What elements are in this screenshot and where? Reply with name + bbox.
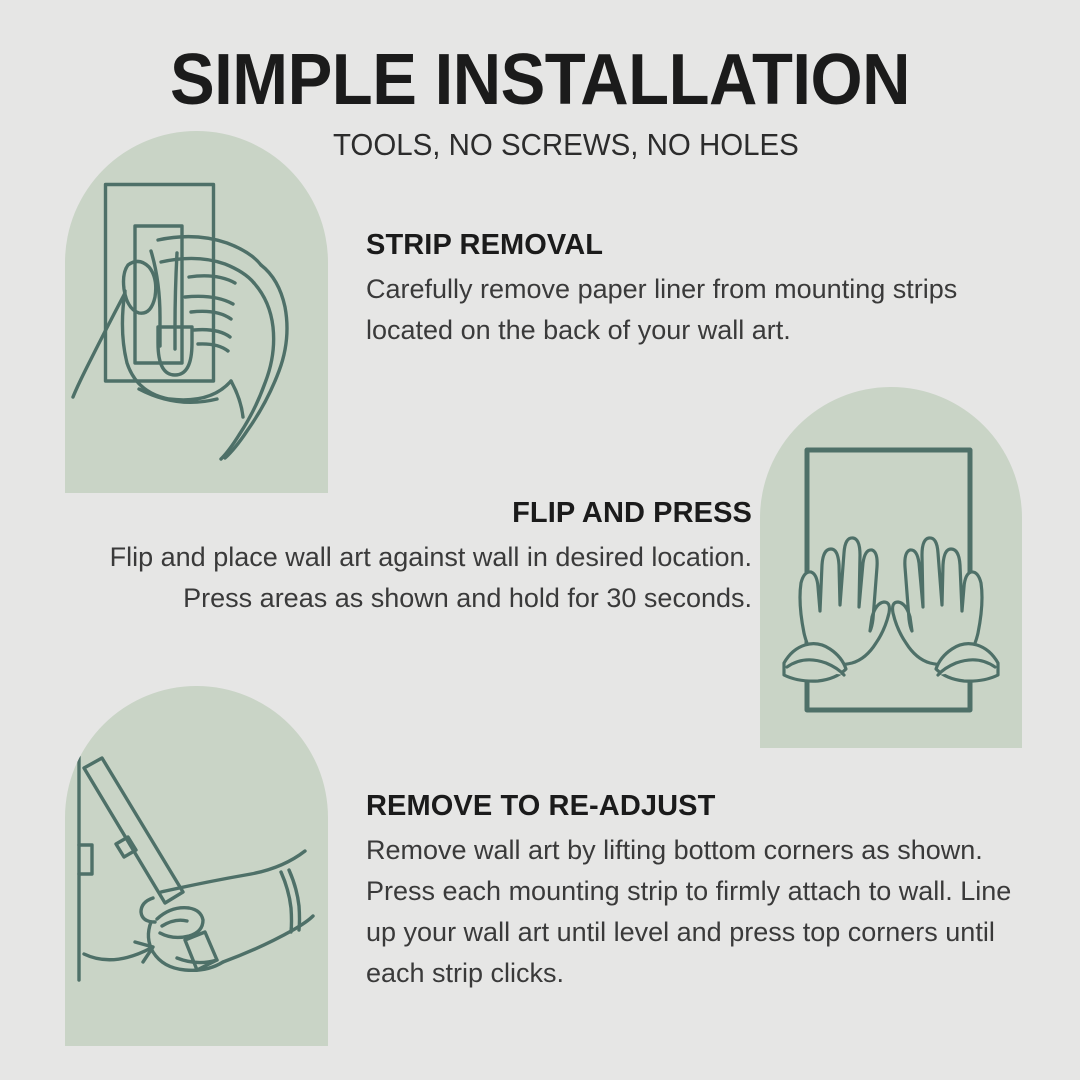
page-title: SIMPLE INSTALLATION <box>38 42 1042 118</box>
step-strip-removal-text: STRIP REMOVAL Carefully remove paper lin… <box>366 228 1006 351</box>
illustration-panel-flip-and-press <box>760 387 1022 748</box>
step-body: Remove wall art by lifting bottom corner… <box>366 830 1014 994</box>
step-heading: FLIP AND PRESS <box>100 496 752 530</box>
infographic-page: SIMPLE INSTALLATION NO TOOLS, NO SCREWS,… <box>0 0 1080 1080</box>
step-flip-and-press-text: FLIP AND PRESS Flip and place wall art a… <box>100 496 752 619</box>
step-heading: STRIP REMOVAL <box>366 228 1006 262</box>
hand-lifting-corner-icon <box>65 686 328 1046</box>
illustration-panel-remove-to-readjust <box>65 686 328 1046</box>
step-remove-to-readjust-text: REMOVE TO RE-ADJUST Remove wall art by l… <box>366 789 1014 994</box>
step-body: Carefully remove paper liner from mounti… <box>366 269 1006 351</box>
step-heading: REMOVE TO RE-ADJUST <box>366 789 1014 823</box>
hand-peeling-liner-icon <box>65 131 328 493</box>
two-hands-pressing-icon <box>760 387 1022 748</box>
illustration-panel-strip-removal <box>65 131 328 493</box>
step-body: Flip and place wall art against wall in … <box>100 537 752 619</box>
